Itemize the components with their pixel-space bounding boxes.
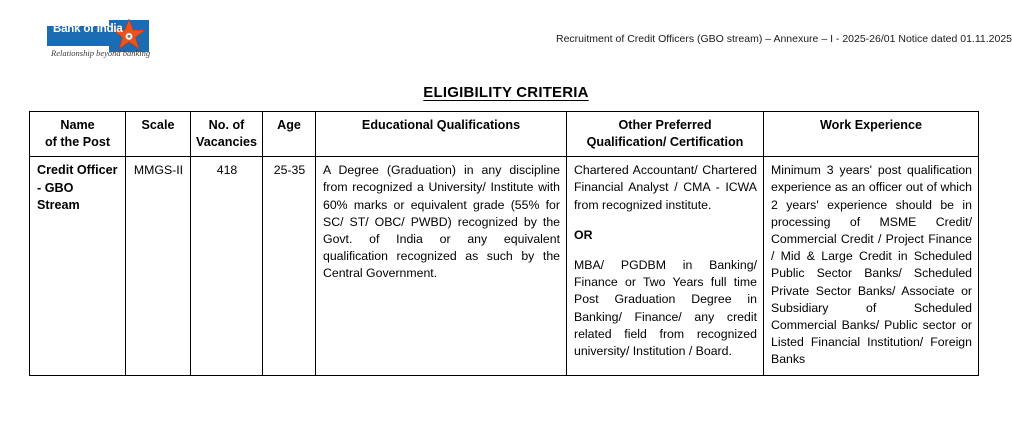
column-header-no-of-vacancies: No. of Vacancies [191, 112, 263, 157]
cell-scale: MMGS-II [126, 157, 191, 375]
header-line-2: Qualification/ Certification [570, 134, 760, 151]
letterhead: Bank of India Relationship beyond bankin… [0, 0, 1012, 72]
table-row: Credit Officer - GBO Stream MMGS-II 418 … [30, 157, 979, 375]
header-line-2: Vacancies [194, 134, 259, 151]
column-header-scale: Scale [126, 112, 191, 157]
scale-value: MMGS-II [126, 157, 190, 185]
header-line-1: Educational Qualifications [362, 118, 520, 132]
paragraph-gap [574, 214, 757, 227]
vacancies-value: 418 [191, 157, 262, 185]
column-header-other-preferred-qualification: Other Preferred Qualification/ Certifica… [567, 112, 764, 157]
column-header-name-of-post: Name of the Post [30, 112, 126, 157]
header-line-1: Other Preferred [618, 118, 711, 132]
page-title-text: ELIGIBILITY CRITERIA [423, 84, 588, 101]
header-line-1: Scale [142, 118, 175, 132]
logo-bank-name: Bank of India [53, 23, 123, 35]
logo-tagline: Relationship beyond banking [51, 48, 150, 58]
other-preferred-part-2: MBA/ PGDBM in Banking/ Finance or Two Ye… [574, 257, 757, 360]
column-header-age: Age [263, 112, 316, 157]
header-line-1: Age [277, 118, 301, 132]
age-value: 25-35 [263, 157, 315, 185]
cell-vacancies: 418 [191, 157, 263, 375]
other-preferred-or-separator: OR [574, 227, 757, 244]
table-header-row: Name of the Post Scale No. of Vacancies … [30, 112, 979, 157]
cell-work-experience: Minimum 3 years' post qualification expe… [764, 157, 979, 375]
paragraph-gap [574, 244, 757, 257]
column-header-work-experience: Work Experience [764, 112, 979, 157]
header-line-1: No. of [209, 118, 245, 132]
bank-of-india-logo: Bank of India Relationship beyond bankin… [47, 20, 149, 62]
post-name-line-1: Credit Officer [37, 163, 117, 177]
work-experience-text: Minimum 3 years' post qualification expe… [764, 157, 978, 374]
page-title: ELIGIBILITY CRITERIA [0, 84, 1012, 101]
header-line-1: Name [60, 118, 94, 132]
header-line-2: of the Post [33, 134, 122, 151]
header-line-1: Work Experience [820, 118, 922, 132]
column-header-educational-qualifications: Educational Qualifications [316, 112, 567, 157]
document-header-note: Recruitment of Credit Officers (GBO stre… [556, 33, 1012, 45]
eligibility-criteria-table: Name of the Post Scale No. of Vacancies … [29, 111, 979, 376]
educational-qualifications-text: A Degree (Graduation) in any discipline … [316, 157, 566, 288]
cell-age: 25-35 [263, 157, 316, 375]
cell-educational-qualifications: A Degree (Graduation) in any discipline … [316, 157, 567, 375]
other-preferred-part-1: Chartered Accountant/ Chartered Financia… [574, 162, 757, 214]
cell-other-preferred-qualification: Chartered Accountant/ Chartered Financia… [567, 157, 764, 375]
cell-name-of-post: Credit Officer - GBO Stream [30, 157, 126, 375]
post-name-line-2: - GBO Stream [37, 181, 80, 213]
